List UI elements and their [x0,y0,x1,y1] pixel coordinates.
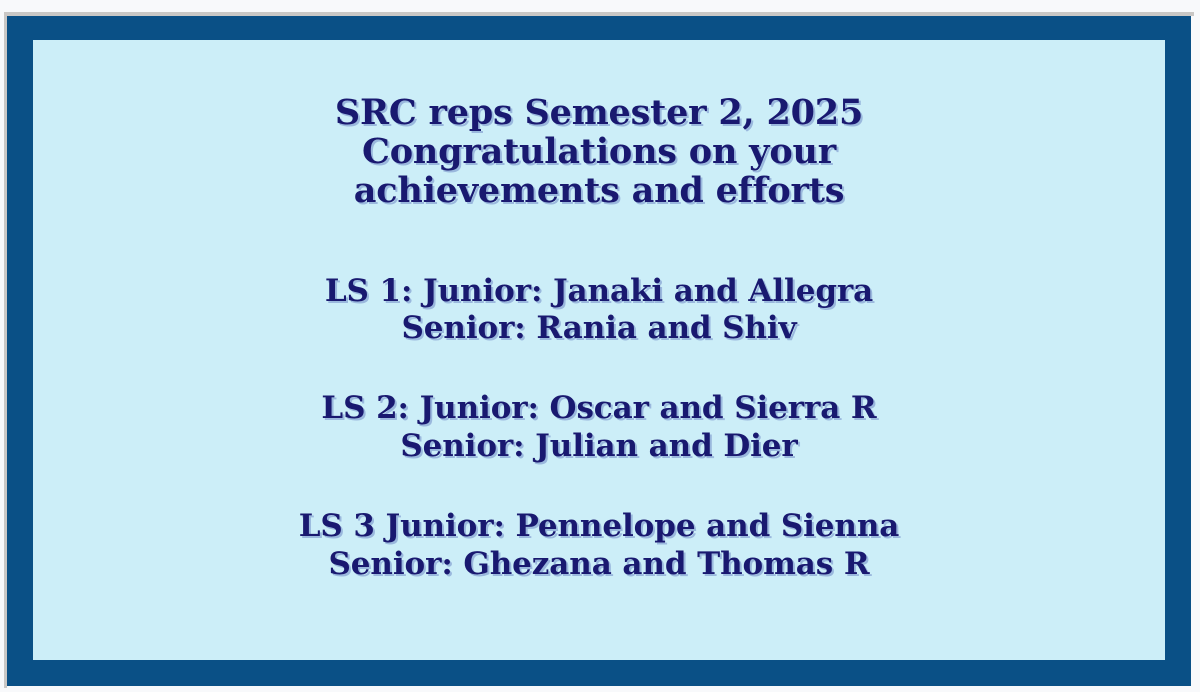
title-line-3: achievements and efforts [33,171,1165,210]
rep-group-ls3: LS 3 Junior: Pennelope and Sienna Senior… [33,508,1165,584]
rep-group-ls3-senior: Senior: Ghezana and Thomas R [33,546,1165,584]
rep-group-ls2: LS 2: Junior: Oscar and Sierra R Senior:… [33,390,1165,466]
rep-group-ls1-senior: Senior: Rania and Shiv [33,310,1165,348]
title-block: SRC reps Semester 2, 2025 Congratulation… [33,93,1165,211]
poster-page: SRC reps Semester 2, 2025 Congratulation… [0,0,1200,692]
rep-group-ls1: LS 1: Junior: Janaki and Allegra Senior:… [33,273,1165,349]
rep-groups-list: LS 1: Junior: Janaki and Allegra Senior:… [33,273,1165,584]
rep-group-ls2-senior: Senior: Julian and Dier [33,428,1165,466]
poster-inner-area: SRC reps Semester 2, 2025 Congratulation… [33,40,1165,660]
rep-group-ls2-junior: LS 2: Junior: Oscar and Sierra R [33,390,1165,428]
poster-content: SRC reps Semester 2, 2025 Congratulation… [33,40,1165,583]
rep-group-ls1-junior: LS 1: Junior: Janaki and Allegra [33,273,1165,311]
title-line-1: SRC reps Semester 2, 2025 [33,93,1165,132]
rep-group-ls3-junior: LS 3 Junior: Pennelope and Sienna [33,508,1165,546]
poster-frame-border: SRC reps Semester 2, 2025 Congratulation… [7,16,1191,686]
title-line-2: Congratulations on your [33,132,1165,171]
